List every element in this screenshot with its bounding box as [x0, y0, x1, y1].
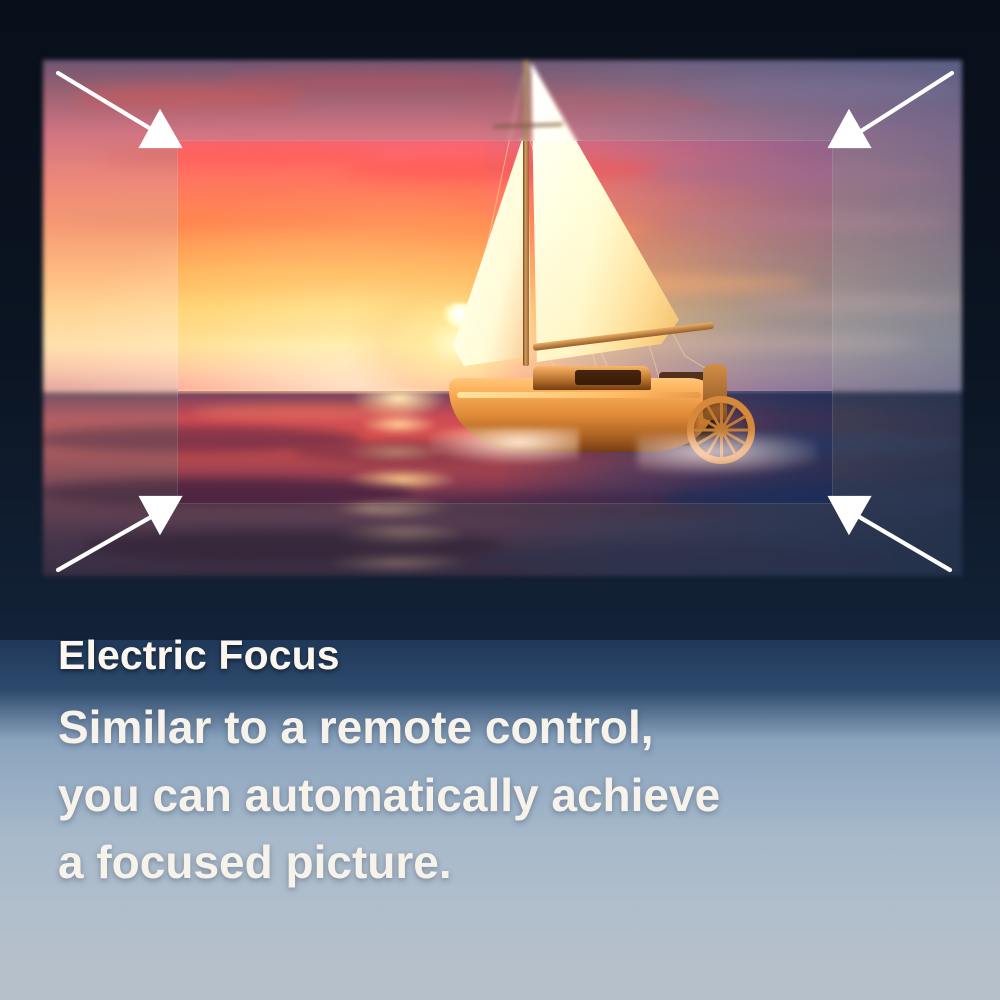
body-line-1: Similar to a remote control, [58, 694, 958, 762]
stern-wake [637, 434, 817, 474]
hull-stripe [457, 392, 701, 398]
mast [523, 141, 529, 366]
sunset-sailboat-scene-inner [178, 141, 832, 503]
headline: Electric Focus [58, 632, 340, 679]
photo-focused-region [178, 141, 832, 503]
sailboat [447, 141, 747, 476]
bow-wake [429, 428, 579, 464]
body-line-3: a focused picture. [58, 829, 958, 897]
cabin-window [575, 370, 641, 385]
body-line-2: you can automatically achieve [58, 762, 958, 830]
slide-canvas: Electric Focus Similar to a remote contr… [0, 0, 1000, 1000]
body-text: Similar to a remote control, you can aut… [58, 694, 958, 897]
caption-block: Electric Focus Similar to a remote contr… [0, 612, 1000, 1000]
